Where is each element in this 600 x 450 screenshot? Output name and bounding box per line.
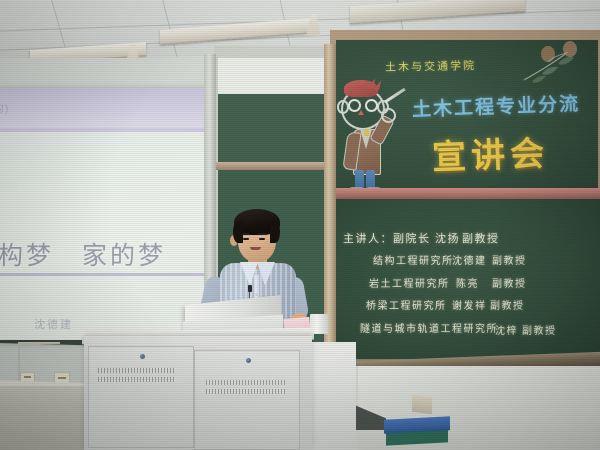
slide-header-text: (结构)	[0, 100, 9, 116]
console-lock-knob[interactable]	[246, 358, 251, 363]
board-event-title: 宣讲会	[431, 126, 550, 179]
sliding-board-white-strip	[218, 58, 326, 94]
shirt-button	[255, 293, 258, 296]
eye-left	[243, 238, 249, 240]
slide-header-band	[0, 88, 226, 128]
speaker-row: 副教授	[522, 322, 557, 337]
slide-author: 沈德建	[34, 316, 73, 332]
teaching-console[interactable]	[84, 336, 312, 450]
wall-cable	[18, 342, 60, 344]
lower-wall	[330, 366, 600, 450]
sliding-board-rail	[216, 162, 328, 170]
hair-side	[233, 221, 243, 243]
chalk-cartoon-drawing	[333, 72, 399, 190]
wall-bracket	[412, 395, 432, 415]
speaker-row: 沈扬	[435, 230, 460, 246]
slide-divider-rule	[0, 273, 224, 276]
console-vent	[206, 380, 286, 385]
speaker-row: 沈梓	[495, 322, 518, 337]
projection-screen-frame: (结构) 结构梦 家的梦 沈德建 结构工程研究所 2015年 5月12日	[0, 88, 226, 340]
chalk-leaf-decoration	[512, 38, 600, 96]
lapel-microphone	[248, 285, 252, 292]
speaker-row: 副院长	[393, 230, 431, 246]
speaker-row: 谢发祥	[452, 297, 487, 312]
console-vent	[98, 377, 176, 382]
console-lock-knob[interactable]	[140, 354, 145, 359]
eye-right	[259, 238, 265, 240]
speaker-row: 副教授	[492, 275, 527, 290]
console-door-right[interactable]	[194, 350, 300, 450]
board-college-text: 土木与交通学院	[385, 57, 476, 75]
speaker-row: 陈亮	[456, 275, 479, 290]
console-door-left[interactable]	[88, 346, 194, 448]
sliding-board-upper	[218, 94, 326, 164]
eyebrow-left	[242, 233, 250, 235]
speaker-row: 岩土工程研究所	[369, 275, 450, 290]
slide-header-rule	[0, 128, 226, 132]
speakers-label: 主讲人：	[343, 230, 393, 246]
projection-screen: (结构) 结构梦 家的梦 沈德建 结构工程研究所 2015年 5月12日	[0, 88, 226, 340]
slide-title: 结构梦 家的梦	[0, 236, 166, 272]
speaker-row: 结构工程研究所	[373, 252, 454, 267]
eyebrow-right	[258, 233, 266, 235]
hair-side	[270, 221, 280, 243]
console-vent	[206, 389, 286, 394]
speaker-row: 副教授	[462, 230, 500, 246]
classroom-photo: (结构) 结构梦 家的梦 沈德建 结构工程研究所 2015年 5月12日	[0, 0, 600, 450]
mouth	[250, 247, 261, 250]
chalkboard-middle-tray	[334, 188, 600, 199]
speaker-row: 副教授	[490, 297, 525, 312]
speaker-row: 副教授	[492, 252, 527, 267]
speaker-row: 桥梁工程研究所	[366, 297, 447, 312]
console-vent	[98, 368, 176, 373]
speaker-row: 隧道与城市轨道工程研究所	[360, 320, 498, 335]
speaker-row: 沈德建	[452, 252, 487, 267]
